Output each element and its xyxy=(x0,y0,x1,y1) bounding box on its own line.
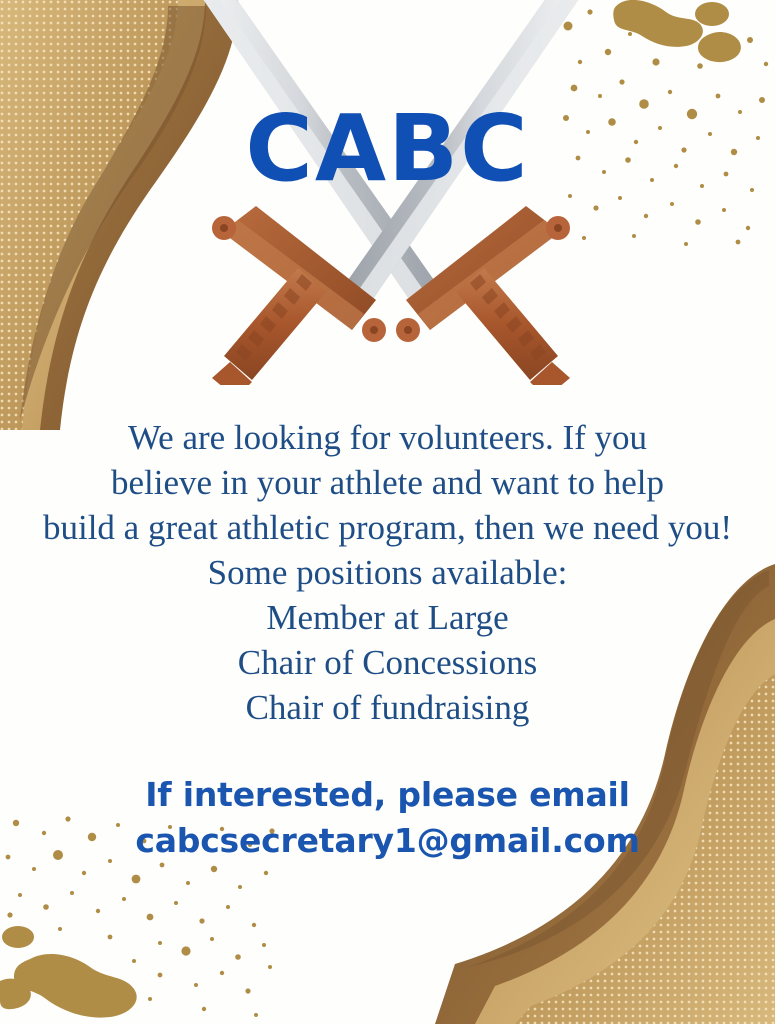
position-chair-of-fundraising: Chair of fundraising xyxy=(0,685,775,730)
position-member-at-large: Member at Large xyxy=(0,595,775,640)
positions-heading: Some positions available: xyxy=(0,550,775,595)
body-line-1: We are looking for volunteers. If you xyxy=(0,415,775,460)
position-chair-of-concessions: Chair of Concessions xyxy=(0,640,775,685)
body-line-3: build a great athletic program, then we … xyxy=(0,505,775,550)
body-line-2: believe in your athlete and want to help xyxy=(0,460,775,505)
contact-callout: If interested, please email cabcsecretar… xyxy=(0,772,775,864)
contact-email[interactable]: cabcsecretary1@gmail.com xyxy=(0,818,775,864)
poster-canvas: CABC We are looking for volunteers. If y… xyxy=(0,0,775,1024)
body-copy: We are looking for volunteers. If you be… xyxy=(0,415,775,730)
cta-line: If interested, please email xyxy=(0,772,775,818)
page-title: CABC xyxy=(0,103,775,195)
